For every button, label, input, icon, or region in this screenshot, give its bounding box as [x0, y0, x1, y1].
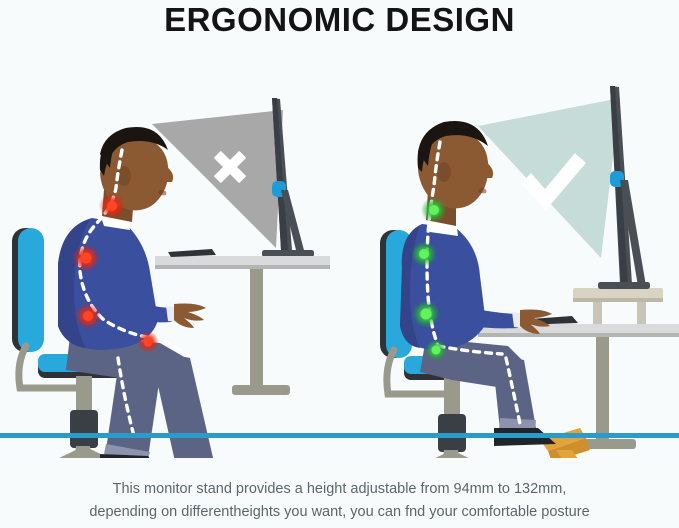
caption-block: This monitor stand provides a height adj…	[0, 478, 679, 524]
floor-line-right	[340, 433, 679, 438]
desk-foot	[232, 385, 290, 395]
caption-line-2: depending on differentheights you want, …	[0, 501, 679, 524]
desk-column	[250, 269, 263, 395]
ear	[437, 162, 451, 182]
ergonomic-design-poster: ERGONOMIC DESIGN	[0, 0, 679, 528]
riser-leg	[593, 302, 602, 324]
monitor-riser	[573, 288, 663, 324]
shin-back	[150, 350, 214, 458]
caption-line-1: This monitor stand provides a height adj…	[0, 478, 679, 501]
panel-bad-posture	[12, 98, 330, 458]
page-title: ERGONOMIC DESIGN	[0, 0, 679, 38]
good-verdict-triangle	[478, 98, 620, 258]
hand	[174, 304, 206, 329]
riser-leg	[637, 302, 646, 324]
monitor-base	[598, 282, 650, 289]
floor-line-left	[0, 433, 340, 438]
bad-keyboard	[168, 249, 216, 257]
monitor-base	[262, 250, 314, 257]
desk-column	[596, 337, 609, 449]
illustration-scene	[0, 58, 679, 458]
shin-front	[106, 368, 160, 458]
panel-good-posture	[380, 86, 679, 458]
